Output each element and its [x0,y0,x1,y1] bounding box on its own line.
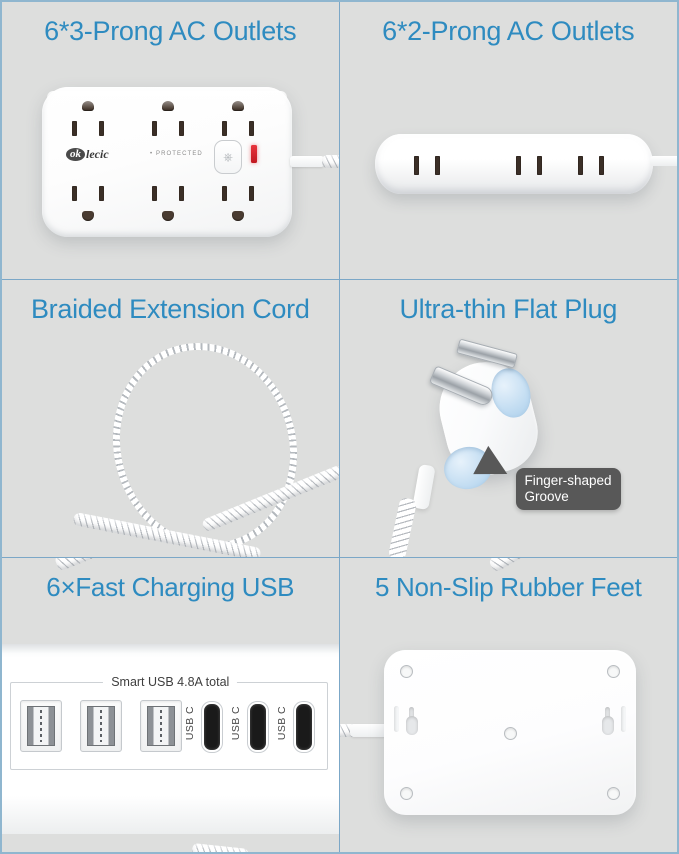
finger-groove-callout: Finger-shaped Groove [516,468,621,510]
neutral-blade-slot [72,121,77,136]
rubber-foot [400,665,413,678]
neutral-blade-slot [414,156,419,175]
panel-rubber-feet: 5 Non-Slip Rubber Feet [340,558,678,852]
braided-cord-segment [322,155,340,168]
hot-blade-slot [249,121,254,136]
power-strip-front-view [375,134,653,194]
panel-ac-outlets-2prong: 6*2-Prong AC Outlets [340,2,678,280]
outlet-3prong [60,177,116,221]
power-strip-bottom-view [384,650,636,815]
keyhole-slot [602,707,614,735]
panel-title: 6*2-Prong AC Outlets [340,16,678,47]
mount-ridge [621,706,626,732]
callout-line-1: Finger-shaped [525,473,612,489]
usb-face-lip [2,644,339,653]
infographic-sheet: 6*3-Prong AC Outlets oklecic • PROTECTED [0,0,679,854]
brand-logo: oklecic [66,147,109,162]
ground-pin-slot [82,101,94,111]
hot-blade-slot [99,186,104,201]
usb-group-label: Smart USB 4.8A total [103,675,237,689]
usb-a-port [140,700,182,752]
hot-blade-slot [537,156,542,175]
outlet-3prong [210,101,266,145]
neutral-blade-slot [222,121,227,136]
hot-blade-slot [249,186,254,201]
ground-pin-slot [162,211,174,221]
outlet-3prong [140,177,196,221]
outlet-2prong [412,156,442,175]
braided-cord-fragment [191,843,248,852]
neutral-blade-slot [516,156,521,175]
brand-logo-text: lecic [86,147,109,162]
usb-a-contact-block [147,706,175,746]
panel-title: 5 Non-Slip Rubber Feet [340,572,678,603]
hot-blade-slot [599,156,604,175]
protected-label: • PROTECTED [150,151,203,157]
braided-cord-illustration [2,280,339,557]
neutral-blade-slot [578,156,583,175]
usb-c-port [294,702,314,752]
panel-title: Ultra-thin Flat Plug [340,294,678,325]
usb-c-label: USB C [276,706,288,740]
power-button-icon[interactable]: ⎈ [214,140,242,174]
usb-c-label: USB C [184,706,196,740]
hot-blade-slot [179,121,184,136]
mount-ridge [394,706,399,732]
power-strip-top-view: oklecic • PROTECTED ⎈ [42,87,292,237]
usb-c-port [202,702,222,752]
power-led [251,145,257,163]
power-cord [650,154,678,168]
usb-a-contact-block [87,706,115,746]
outlet-3prong [60,101,116,145]
rubber-foot [400,787,413,800]
neutral-blade-slot [72,186,77,201]
keyhole-slot [406,707,418,735]
rubber-foot [607,665,620,678]
hot-blade-slot [435,156,440,175]
usb-a-port [80,700,122,752]
panel-title: 6*3-Prong AC Outlets [2,16,339,47]
brand-logo-mark: ok [66,148,85,161]
cord-strain-relief [650,156,678,166]
panel-flat-plug: Ultra-thin Flat Plug Finger-shaped Groov… [340,280,678,558]
usb-a-port [20,700,62,752]
rubber-foot-center [504,727,517,740]
hot-blade-slot [99,121,104,136]
keyhole-slot-head [406,716,418,735]
power-cord [290,154,340,169]
outlet-2prong [576,156,606,175]
panel-title: 6×Fast Charging USB [2,572,339,603]
usb-a-contact-block [27,706,55,746]
neutral-blade-slot [222,186,227,201]
neutral-blade-slot [152,186,157,201]
cord-strain-relief [290,156,324,167]
outlet-3prong [140,101,196,145]
ground-pin-slot [82,211,94,221]
ground-pin-slot [232,101,244,111]
rubber-foot [607,787,620,800]
panel-ac-outlets-3prong: 6*3-Prong AC Outlets oklecic • PROTECTED [2,2,340,280]
callout-line-2: Groove [525,489,612,505]
ground-pin-slot [162,101,174,111]
panel-braided-cord: Braided Extension Cord [2,280,340,558]
outlet-2prong [514,156,544,175]
outlet-3prong [210,177,266,221]
usb-c-label: USB C [230,706,242,740]
neutral-blade-slot [152,121,157,136]
feature-grid: 6*3-Prong AC Outlets oklecic • PROTECTED [2,2,677,852]
usb-c-port [248,702,268,752]
panel-fast-charging-usb: 6×Fast Charging USB Smart USB 4.8A total… [2,558,340,852]
keyhole-slot-head [602,716,614,735]
braided-cord-fragment [487,558,540,573]
ground-pin-slot [232,211,244,221]
braided-cord-fragment [54,558,130,572]
hot-blade-slot [179,186,184,201]
braided-cord-segment [387,497,417,558]
